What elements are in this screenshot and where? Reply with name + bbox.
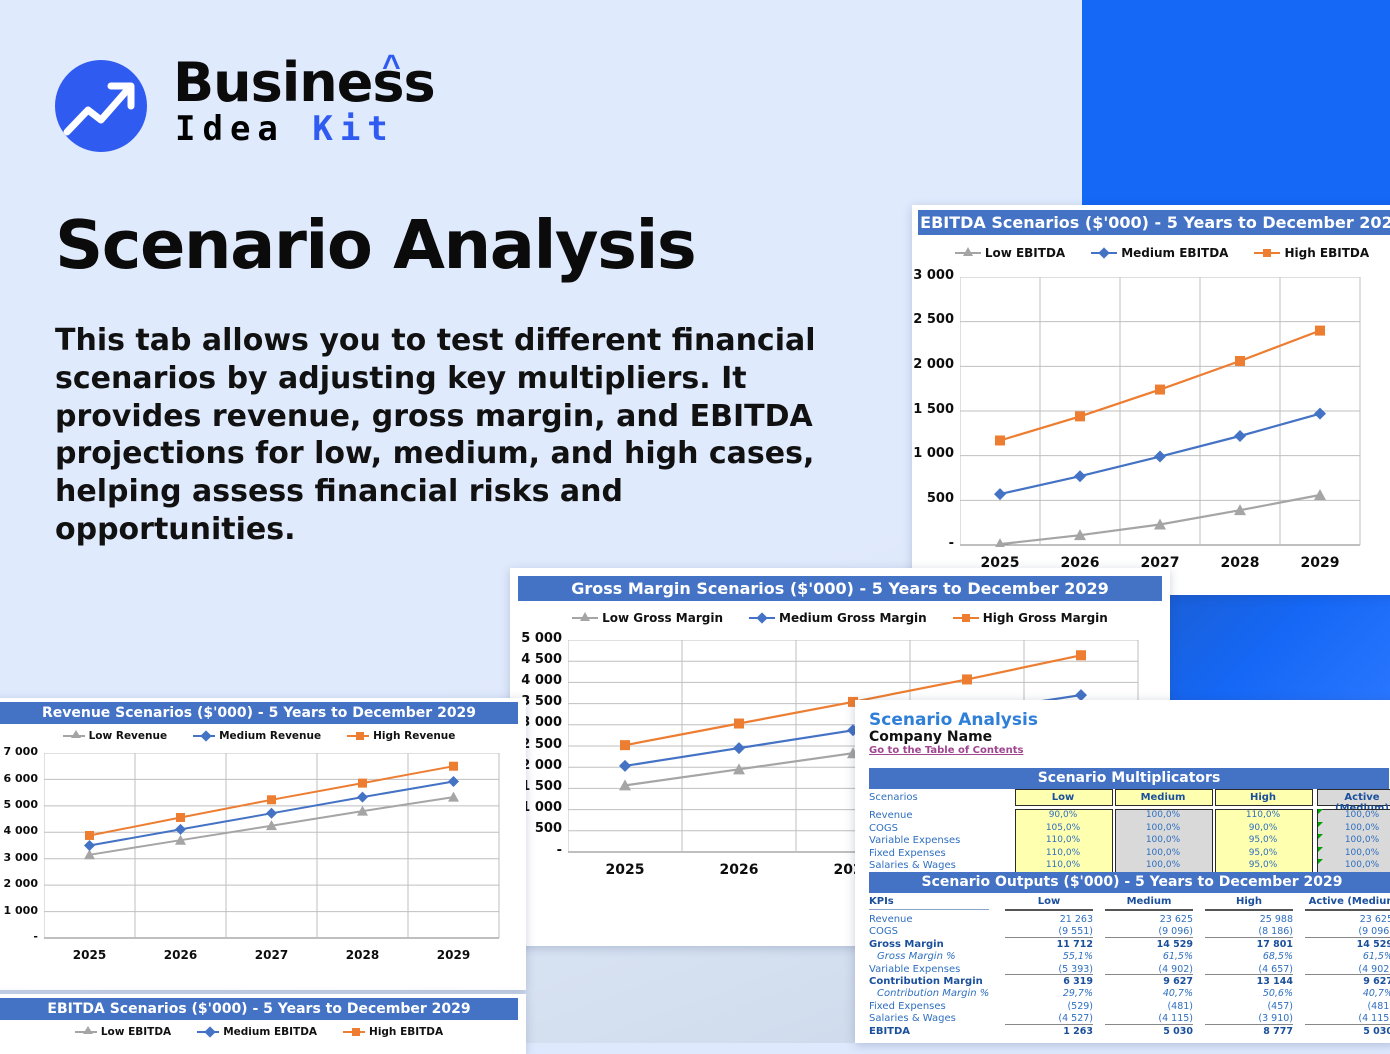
outputs-cell: 29,7%: [1005, 988, 1093, 999]
x-axis-tick: 2029: [408, 948, 499, 962]
legend-swatch-icon: [953, 617, 979, 619]
legend-item-high-revenue[interactable]: High Revenue: [347, 730, 455, 742]
legend-swatch-icon: [1091, 252, 1117, 254]
multipliers-row-label-header: Scenarios: [869, 792, 918, 803]
outputs-cell: 13 144: [1205, 976, 1293, 987]
multipliers-active-cell: 100,0%: [1317, 848, 1390, 858]
legend-item-low-revenue[interactable]: Low Revenue: [63, 730, 168, 742]
legend-item-medium-gross-margin[interactable]: Medium Gross Margin: [749, 611, 927, 625]
multipliers-row-label: Fixed Expenses: [869, 848, 946, 859]
multipliers-header: Scenario Multiplicators: [869, 768, 1389, 789]
y-axis-tick: 500: [910, 491, 954, 506]
y-axis-tick: 1 500: [910, 402, 954, 417]
multipliers-cell[interactable]: 100,0%: [1115, 848, 1211, 858]
outputs-cell: (4 527): [1005, 1013, 1093, 1024]
y-axis-tick: -: [0, 930, 38, 943]
outputs-active-cell: 14 529: [1305, 939, 1390, 950]
outputs-active-col-header: Active (Medium): [1305, 896, 1390, 907]
legend-label: Low Gross Margin: [602, 611, 723, 625]
chart-legend-gross-margin: Low Gross Margin Medium Gross Margin Hig…: [510, 608, 1170, 628]
multipliers-cell[interactable]: 110,0%: [1015, 848, 1111, 858]
legend-label: High Revenue: [373, 730, 455, 742]
outputs-cell: 1 263: [1005, 1026, 1093, 1037]
outputs-row-label: Variable Expenses: [869, 964, 960, 975]
outputs-cell: 21 263: [1005, 914, 1093, 925]
x-axis-tick: 2025: [44, 948, 135, 962]
y-axis-tick: 3 000: [910, 268, 954, 283]
chart-title-ebitda: EBITDA Scenarios ($'000) - 5 Years to De…: [918, 210, 1390, 235]
y-axis-tick: 7 000: [0, 745, 38, 758]
legend-label: Medium EBITDA: [223, 1026, 317, 1038]
outputs-cell: (529): [1005, 1001, 1093, 1012]
y-axis-tick: 2 000: [910, 357, 954, 372]
x-axis-tick: 2026: [135, 948, 226, 962]
page-title: Scenario Analysis: [55, 210, 885, 280]
chart-legend-ebitda-bottom: Low EBITDA Medium EBITDA High EBITDA: [0, 1023, 526, 1041]
multipliers-row-label: COGS: [869, 823, 898, 834]
outputs-cell: 40,7%: [1105, 988, 1193, 999]
legend-item-high-gross-margin[interactable]: High Gross Margin: [953, 611, 1108, 625]
legend-swatch-icon: [572, 617, 598, 619]
outputs-active-cell: 9 627: [1305, 976, 1390, 987]
legend-label: High EBITDA: [1284, 246, 1369, 260]
scenario-analysis-spreadsheet-panel: Scenario Analysis Company Name Go to the…: [855, 700, 1390, 1043]
outputs-cell: 17 801: [1205, 939, 1293, 950]
y-axis-tick: 2 000: [0, 877, 38, 890]
outputs-row-label: Contribution Margin %: [869, 988, 989, 999]
legend-label: Medium Revenue: [219, 730, 321, 742]
outputs-cell: 61,5%: [1105, 951, 1193, 962]
outputs-row-label: Revenue: [869, 914, 913, 925]
outputs-cell: (457): [1205, 1001, 1293, 1012]
chart-legend-ebitda: Low EBITDA Medium EBITDA High EBITDA: [912, 243, 1390, 263]
multipliers-cell[interactable]: 95,0%: [1215, 835, 1311, 845]
legend-swatch-icon: [197, 1031, 219, 1033]
legend-label: High EBITDA: [369, 1026, 443, 1038]
outputs-cell: (481): [1105, 1001, 1193, 1012]
y-axis-tick: 4 500: [514, 652, 562, 667]
legend-label: Low EBITDA: [985, 246, 1065, 260]
multipliers-cell[interactable]: 110,0%: [1015, 835, 1111, 845]
chart-title-ebitda-bottom: EBITDA Scenarios ($'000) - 5 Years to De…: [0, 998, 518, 1020]
legend-swatch-icon: [193, 735, 215, 737]
x-axis-tick: 2028: [1200, 555, 1280, 571]
outputs-row-label: Contribution Margin: [869, 976, 983, 987]
legend-swatch-icon: [63, 735, 85, 737]
legend-item-low-gross-margin[interactable]: Low Gross Margin: [572, 611, 723, 625]
legend-swatch-icon: [343, 1031, 365, 1033]
legend-item-medium-revenue[interactable]: Medium Revenue: [193, 730, 321, 742]
chart-plot-revenue: -1 0002 0003 0004 0005 0006 0007 0002025…: [44, 753, 501, 940]
multipliers-active-cell: 100,0%: [1317, 860, 1390, 870]
legend-label: High Gross Margin: [983, 611, 1108, 625]
brand-tagline-kit: Kit: [312, 109, 394, 149]
x-axis-tick: 2028: [317, 948, 408, 962]
outputs-cell: 5 030: [1105, 1026, 1193, 1037]
outputs-active-cell: (4 115): [1305, 1013, 1390, 1024]
outputs-col-header: Medium: [1105, 896, 1193, 907]
outputs-cell: 6 319: [1005, 976, 1093, 987]
multipliers-active-cell: 100,0%: [1317, 823, 1390, 833]
legend-label: Medium EBITDA: [1121, 246, 1228, 260]
legend-swatch-icon: [347, 735, 369, 737]
outputs-cell: (4 902): [1105, 964, 1193, 975]
multipliers-cell[interactable]: 100,0%: [1115, 835, 1211, 845]
outputs-cell: 9 627: [1105, 976, 1193, 987]
outputs-row-label: Gross Margin: [869, 939, 944, 950]
outputs-header: Scenario Outputs ($'000) - 5 Years to De…: [869, 872, 1390, 893]
outputs-col-header: High: [1205, 896, 1293, 907]
outputs-cell: 68,5%: [1205, 951, 1293, 962]
multipliers-row-label: Salaries & Wages: [869, 860, 956, 871]
legend-item-low-ebitda[interactable]: Low EBITDA: [955, 246, 1065, 260]
brand-tagline-idea: Idea: [175, 109, 312, 149]
chart-legend-revenue: Low Revenue Medium Revenue High Revenue: [0, 727, 526, 745]
spreadsheet-title: Scenario Analysis: [869, 710, 1038, 730]
multipliers-cell[interactable]: 110,0%: [1015, 860, 1111, 870]
multipliers-cell[interactable]: 90,0%: [1015, 810, 1111, 820]
outputs-cell: 55,1%: [1005, 951, 1093, 962]
legend-item-high-ebitda-bottom[interactable]: High EBITDA: [343, 1026, 443, 1038]
multipliers-cell[interactable]: 95,0%: [1215, 860, 1311, 870]
multipliers-cell[interactable]: 100,0%: [1115, 860, 1211, 870]
y-axis-tick: 4 000: [0, 824, 38, 837]
chart-card-ebitda-bottom: EBITDA Scenarios ($'000) - 5 Years to De…: [0, 994, 526, 1054]
y-axis-tick: 3 000: [0, 851, 38, 864]
chart-card-ebitda: EBITDA Scenarios ($'000) - 5 Years to De…: [912, 205, 1390, 595]
outputs-row-label: EBITDA: [869, 1026, 910, 1037]
outputs-cell: 23 625: [1105, 914, 1193, 925]
multipliers-col-header: High: [1215, 792, 1311, 803]
outputs-cell: 8 777: [1205, 1026, 1293, 1037]
outputs-cell: (3 910): [1205, 1013, 1293, 1024]
outputs-active-cell: (481): [1305, 1001, 1390, 1012]
outputs-cell: 14 529: [1105, 939, 1193, 950]
multipliers-active-cell: 100,0%: [1317, 810, 1390, 820]
outputs-row-label: Fixed Expenses: [869, 1001, 946, 1012]
legend-item-low-ebitda-bottom[interactable]: Low EBITDA: [75, 1026, 171, 1038]
multipliers-cell[interactable]: 95,0%: [1215, 848, 1311, 858]
page-description: This tab allows you to test different fi…: [55, 322, 855, 549]
outputs-active-cell: (4 902): [1305, 964, 1390, 975]
legend-swatch-icon: [75, 1031, 97, 1033]
legend-label: Low Revenue: [89, 730, 168, 742]
outputs-active-cell: (9 096): [1305, 926, 1390, 937]
outputs-cell: (8 186): [1205, 926, 1293, 937]
outputs-cell: (9 096): [1105, 926, 1193, 937]
x-axis-tick: 2025: [568, 862, 682, 878]
legend-swatch-icon: [1254, 252, 1280, 254]
outputs-active-cell: 23 625: [1305, 914, 1390, 925]
multipliers-cell[interactable]: 110,0%: [1215, 810, 1311, 820]
legend-item-medium-ebitda[interactable]: Medium EBITDA: [1091, 246, 1228, 260]
x-axis-tick: 2029: [1280, 555, 1360, 571]
legend-swatch-icon: [749, 617, 775, 619]
y-axis-tick: 2 500: [910, 312, 954, 327]
outputs-cell: (4 657): [1205, 964, 1293, 975]
multipliers-cell[interactable]: 90,0%: [1215, 823, 1311, 833]
y-axis-tick: 1 000: [0, 904, 38, 917]
outputs-cell: (5 393): [1005, 964, 1093, 975]
brand-circumflex-icon: ^: [382, 48, 401, 85]
growth-arrow-icon: [55, 60, 147, 152]
y-axis-tick: 6 000: [0, 772, 38, 785]
multipliers-active-cell: 100,0%: [1317, 835, 1390, 845]
decorative-blue-block-middle: [1170, 592, 1390, 702]
brand-tagline: Idea Kit: [175, 112, 395, 146]
decorative-blue-block-top: [1082, 0, 1390, 207]
legend-label: Low EBITDA: [101, 1026, 171, 1038]
chart-card-revenue: Revenue Scenarios ($'000) - 5 Years to D…: [0, 698, 526, 990]
x-axis-tick: 2027: [226, 948, 317, 962]
outputs-cell: (4 115): [1105, 1013, 1193, 1024]
legend-swatch-icon: [955, 252, 981, 254]
y-axis-tick: 5 000: [514, 631, 562, 646]
outputs-row-label: COGS: [869, 926, 898, 937]
y-axis-tick: 4 000: [514, 673, 562, 688]
outputs-cell: 25 988: [1205, 914, 1293, 925]
outputs-cell: (9 551): [1005, 926, 1093, 937]
brand-logo: Business ^ Idea Kit: [55, 60, 475, 152]
multipliers-row-label: Revenue: [869, 810, 913, 821]
outputs-active-cell: 61,5%: [1305, 951, 1390, 962]
outputs-row-label: Gross Margin %: [869, 951, 956, 962]
legend-label: Medium Gross Margin: [779, 611, 927, 625]
multipliers-col-header: Low: [1015, 792, 1111, 803]
y-axis-tick: -: [910, 536, 954, 551]
table-of-contents-link[interactable]: Go to the Table of Contents: [869, 745, 1023, 756]
spreadsheet-company-name: Company Name: [869, 729, 992, 745]
multipliers-cell[interactable]: 100,0%: [1115, 810, 1211, 820]
multipliers-cell[interactable]: 105,0%: [1015, 823, 1111, 833]
legend-item-high-ebitda[interactable]: High EBITDA: [1254, 246, 1369, 260]
outputs-active-cell: 5 030: [1305, 1026, 1390, 1037]
outputs-cell: 11 712: [1005, 939, 1093, 950]
outputs-row-label: Salaries & Wages: [869, 1013, 956, 1024]
multipliers-cell[interactable]: 100,0%: [1115, 823, 1211, 833]
outputs-cell: 50,6%: [1205, 988, 1293, 999]
multipliers-col-header: Medium: [1115, 792, 1211, 803]
legend-item-medium-ebitda-bottom[interactable]: Medium EBITDA: [197, 1026, 317, 1038]
y-axis-tick: 1 000: [910, 446, 954, 461]
x-axis-tick: 2026: [682, 862, 796, 878]
y-axis-tick: 5 000: [0, 798, 38, 811]
chart-plot-ebitda: -5001 0001 5002 0002 5003 00020252026202…: [960, 277, 1362, 547]
chart-title-gross-margin: Gross Margin Scenarios ($'000) - 5 Years…: [518, 576, 1162, 601]
outputs-row-label-header: KPIs: [869, 896, 894, 907]
multipliers-row-label: Variable Expenses: [869, 835, 960, 846]
chart-title-revenue: Revenue Scenarios ($'000) - 5 Years to D…: [0, 702, 518, 724]
outputs-col-header: Low: [1005, 896, 1093, 907]
outputs-active-cell: 40,7%: [1305, 988, 1390, 999]
